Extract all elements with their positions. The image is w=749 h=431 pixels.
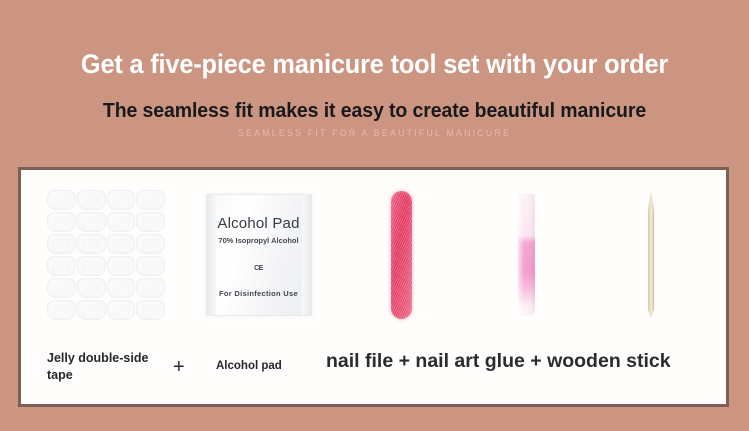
tape-tab: [47, 190, 76, 210]
alcohol-pad-package-title: Alcohol Pad: [207, 195, 311, 232]
tape-tab: [107, 234, 136, 254]
product-slot-nail-art-glue: [471, 170, 581, 340]
product-card: Alcohol Pad 70% Isopropyl Alcohol CE For…: [18, 167, 729, 407]
tape-tab: [47, 234, 76, 254]
tape-tab: [77, 300, 106, 320]
tape-tab: [136, 234, 165, 254]
product-slot-wooden-stick: [591, 170, 711, 340]
tape-tab: [136, 300, 165, 320]
product-label-row: Jelly double-side tape + Alcohol pad nai…: [21, 342, 726, 404]
headline-secondary: The seamless fit makes it easy to create…: [19, 80, 731, 123]
tape-tab: [47, 300, 76, 320]
label-jelly-double-side-tape: Jelly double-side tape: [47, 350, 167, 384]
tape-tab: [47, 256, 76, 276]
product-slot-nail-file: [346, 170, 456, 340]
product-image-row: Alcohol Pad 70% Isopropyl Alcohol CE For…: [21, 170, 726, 340]
tape-tab: [47, 212, 76, 232]
label-alcohol-pad: Alcohol pad: [216, 359, 336, 374]
product-slot-alcohol-pad: Alcohol Pad 70% Isopropyl Alcohol CE For…: [196, 170, 321, 340]
product-card-inner: Alcohol Pad 70% Isopropyl Alcohol CE For…: [21, 170, 726, 404]
product-slot-jelly-tape: [31, 170, 181, 340]
tape-tab: [136, 278, 165, 298]
tape-tab: [77, 212, 106, 232]
wooden-stick-image: [648, 193, 654, 317]
alcohol-pad-image: Alcohol Pad 70% Isopropyl Alcohol CE For…: [206, 194, 312, 316]
tape-tab: [107, 278, 136, 298]
label-plus-separator: +: [173, 356, 185, 378]
headline-primary: Get a five-piece manicure tool set with …: [22, 0, 726, 80]
headline-kicker: SEAMLESS FIT FOR A BEAUTIFUL MANICURE: [0, 123, 749, 139]
nail-file-image: [391, 191, 412, 319]
nail-art-glue-image: [518, 194, 535, 316]
tape-tab: [107, 256, 136, 276]
label-nail-file-glue-stick: nail file + nail art glue + wooden stick: [326, 348, 726, 374]
headline-block: Get a five-piece manicure tool set with …: [0, 0, 749, 139]
tape-tab: [77, 278, 106, 298]
alcohol-pad-package-footer: For Disinfection Use: [207, 273, 311, 298]
tape-tab: [136, 212, 165, 232]
alcohol-pad-ce-mark: CE: [207, 245, 311, 273]
tape-tab: [77, 234, 106, 254]
tape-tab: [107, 212, 136, 232]
tape-tab: [107, 300, 136, 320]
jelly-double-side-tape-image: [47, 190, 165, 320]
promo-banner: Get a five-piece manicure tool set with …: [0, 0, 749, 431]
tape-tab: [77, 190, 106, 210]
tape-tab: [136, 256, 165, 276]
tape-tab: [107, 190, 136, 210]
tape-tab: [136, 190, 165, 210]
tape-tab: [77, 256, 106, 276]
alcohol-pad-package-subtitle: 70% Isopropyl Alcohol: [207, 232, 311, 245]
tape-tab: [47, 278, 76, 298]
